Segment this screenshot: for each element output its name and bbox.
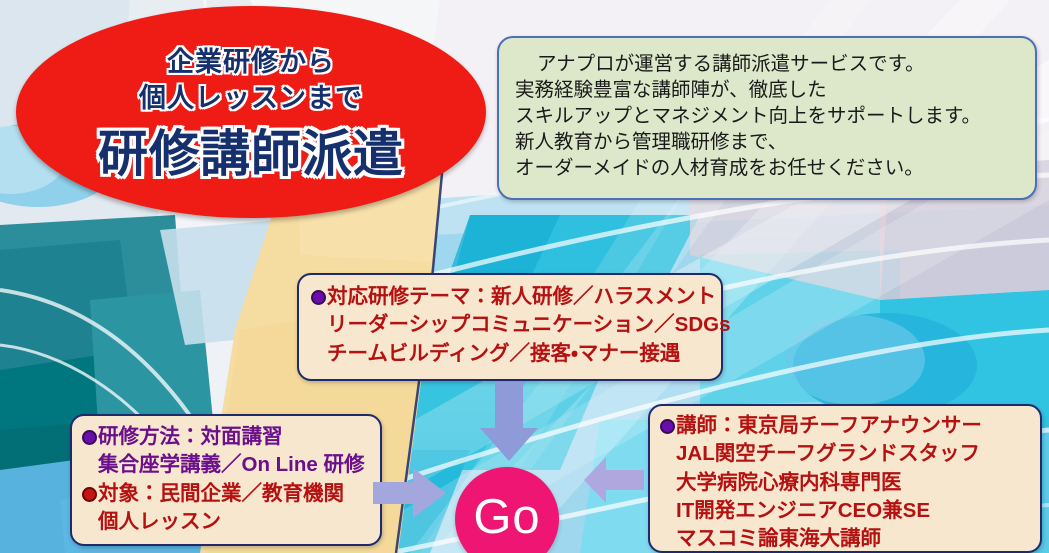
method-line-2: 集合座学講義／On Line 研修 (82, 451, 372, 479)
filled-circle-crimson-icon (82, 487, 97, 502)
method-line-4: 個人レッスン (82, 508, 372, 536)
intro-line-2: 実務経験豊富な講師陣が、徹底した (515, 78, 1021, 104)
arrow-right-icon (373, 466, 447, 520)
themes-line-1-text: 対応研修テーマ：新人研修／ハラスメント (327, 285, 716, 308)
filled-circle-purple-icon (311, 290, 326, 305)
intro-line-5: オーダーメイドの人材育成をお任せください。 (515, 156, 1021, 182)
headline-main-title: 研修講師派遣 (98, 128, 404, 181)
method-line-1: 研修方法：対面講習 (82, 423, 372, 451)
go-button-label: Go (473, 493, 540, 542)
lecturer-line-3: 大学病院心療内科専門医 (660, 469, 1032, 497)
lecturer-line-1-text: 講師：東京局チーフアナウンサー (676, 414, 982, 437)
arrow-down-icon (478, 382, 540, 462)
intro-description-card: アナプロが運営する講師派遣サービスです。 実務経験豊富な講師陣が、徹底した スキ… (497, 36, 1037, 200)
lecturer-line-1: 講師：東京局チーフアナウンサー (660, 412, 1032, 440)
method-line-3-text: 対象：民間企業／教育機関 (98, 482, 344, 505)
filled-circle-purple-icon (660, 419, 675, 434)
method-line-1-text: 研修方法：対面講習 (98, 425, 283, 448)
intro-line-4: 新人教育から管理職研修まで、 (515, 130, 1021, 156)
method-line-3: 対象：民間企業／教育機関 (82, 480, 372, 508)
headline-subtitle-line-1: 企業研修から (167, 44, 335, 80)
headline-subtitle-line-2: 個人レッスンまで (139, 80, 363, 116)
headline-ellipse: 企業研修から 個人レッスンまで 研修講師派遣 (16, 6, 486, 218)
lecturer-line-2: JAL関空チーフグランドスタッフ (660, 440, 1032, 468)
intro-line-3: スキルアップとマネジメント向上をサポートします。 (515, 104, 1021, 130)
training-themes-card: 対応研修テーマ：新人研修／ハラスメント リーダーシップコミュニケーション／SDG… (297, 273, 723, 381)
themes-line-2: リーダーシップコミュニケーション／SDGs (311, 311, 711, 339)
lecturer-profiles-card: 講師：東京局チーフアナウンサー JAL関空チーフグランドスタッフ 大学病院心療内… (648, 404, 1042, 553)
arrow-left-icon (583, 456, 645, 504)
lecturer-line-5: マスコミ論東海大講師 (660, 525, 1032, 553)
lecturer-line-4: IT開発エンジニアCEO兼SE (660, 497, 1032, 525)
promo-banner: 企業研修から 個人レッスンまで 研修講師派遣 アナプロが運営する講師派遣サービス… (0, 0, 1049, 553)
filled-circle-purple-icon (82, 430, 97, 445)
training-method-card: 研修方法：対面講習 集合座学講義／On Line 研修 対象：民間企業／教育機関… (70, 414, 382, 546)
themes-line-1: 対応研修テーマ：新人研修／ハラスメント (311, 283, 711, 311)
intro-line-1: アナプロが運営する講師派遣サービスです。 (515, 52, 1021, 78)
themes-line-3: チームビルディング／接客・マナー接遇 (311, 340, 711, 368)
